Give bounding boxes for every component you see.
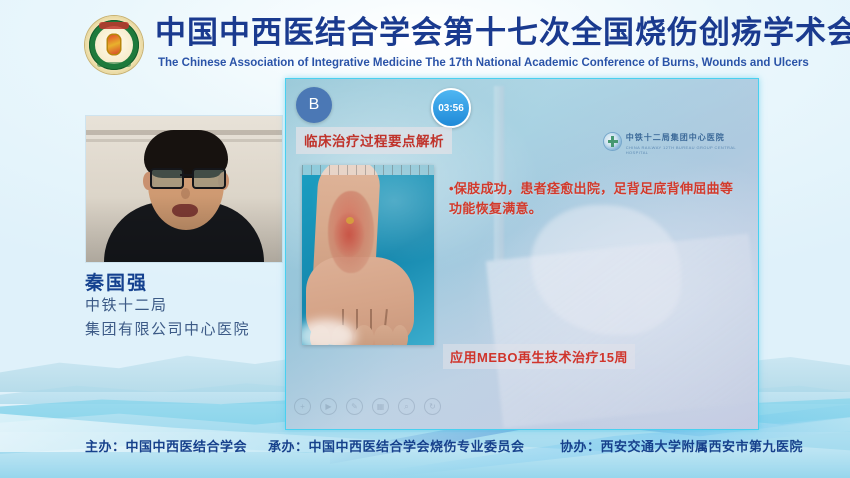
- association-logo: [85, 16, 145, 74]
- footer-coorganizer: 协办：西安交通大学附属西安市第九医院: [560, 436, 803, 455]
- hospital-cross-icon: [604, 133, 621, 150]
- grid-icon[interactable]: ▦: [372, 398, 389, 415]
- conference-footer: 主办：中国中西医结合学会 承办：中国中西医结合学会烧伤专业委员会 协办：西安交通…: [0, 414, 850, 478]
- conference-title: 中国中西医结合学会第十七次全国烧伤创疡学术会议: [155, 14, 845, 52]
- video-vignette: [86, 116, 282, 262]
- slide-title: 临床治疗过程要点解析: [296, 127, 452, 154]
- speaker-name: 秦国强: [85, 268, 148, 295]
- hospital-logo-subtext: CHINA RAILWAY 12TH BUREAU GROUP CENTRAL …: [626, 145, 758, 155]
- toe-4: [374, 325, 394, 345]
- zoom-icon[interactable]: ⌕: [398, 398, 415, 415]
- presentation-slide-panel[interactable]: B 03:56 临床治疗过程要点解析 •保肢成功，患者痊愈出院，足背足底背伸屈曲…: [285, 78, 759, 430]
- emblem-base-band: [97, 62, 131, 67]
- toe-3: [354, 325, 374, 345]
- slide-background-keyboard: [486, 234, 759, 429]
- presenter-avatar[interactable]: B: [296, 87, 332, 123]
- slide-bullet-text: •保肢成功，患者痊愈出院，足背足底背伸屈曲等功能恢复满意。: [449, 179, 739, 219]
- wound-spot: [346, 217, 354, 224]
- speaker-organization-line2: 集团有限公司中心医院: [85, 318, 250, 339]
- conference-header: 中国中西医结合学会第十七次全国烧伤创疡学术会议 The Chinese Asso…: [0, 0, 850, 80]
- hospital-logo: 中铁十二局集团中心医院 CHINA RAILWAY 12TH BUREAU GR…: [604, 127, 758, 155]
- play-icon[interactable]: ▶: [320, 398, 337, 415]
- footer-organizer: 主办：中国中西医结合学会: [85, 436, 247, 455]
- session-timer-badge: 03:56: [431, 88, 471, 128]
- photo-ruler-strip: [302, 165, 434, 175]
- speaker-organization-line1: 中铁十二局: [85, 294, 168, 315]
- slide-toolbar[interactable]: + ▶ ✎ ▦ ⌕ ↻: [294, 398, 441, 415]
- slide-photo-caption: 应用MEBO再生技术治疗15周: [443, 344, 635, 369]
- emblem-symbol: [107, 34, 122, 56]
- slide-background-pole: [494, 86, 504, 261]
- association-emblem-icon: [85, 16, 143, 74]
- conference-subtitle-english: The Chinese Association of Integrative M…: [158, 56, 848, 70]
- speaker-video-feed[interactable]: [85, 115, 283, 263]
- clinical-photo: [302, 165, 434, 345]
- pen-icon[interactable]: ✎: [346, 398, 363, 415]
- emblem-top-band: [99, 22, 129, 29]
- footer-undertaker: 承办：中国中西医结合学会烧伤专业委员会: [268, 436, 525, 455]
- hospital-logo-text: 中铁十二局集团中心医院: [626, 133, 725, 142]
- add-icon[interactable]: +: [294, 398, 311, 415]
- refresh-icon[interactable]: ↻: [424, 398, 441, 415]
- toe-5: [392, 325, 408, 345]
- conference-stream-screen: 中国中西医结合学会第十七次全国烧伤创疡学术会议 The Chinese Asso…: [0, 0, 850, 478]
